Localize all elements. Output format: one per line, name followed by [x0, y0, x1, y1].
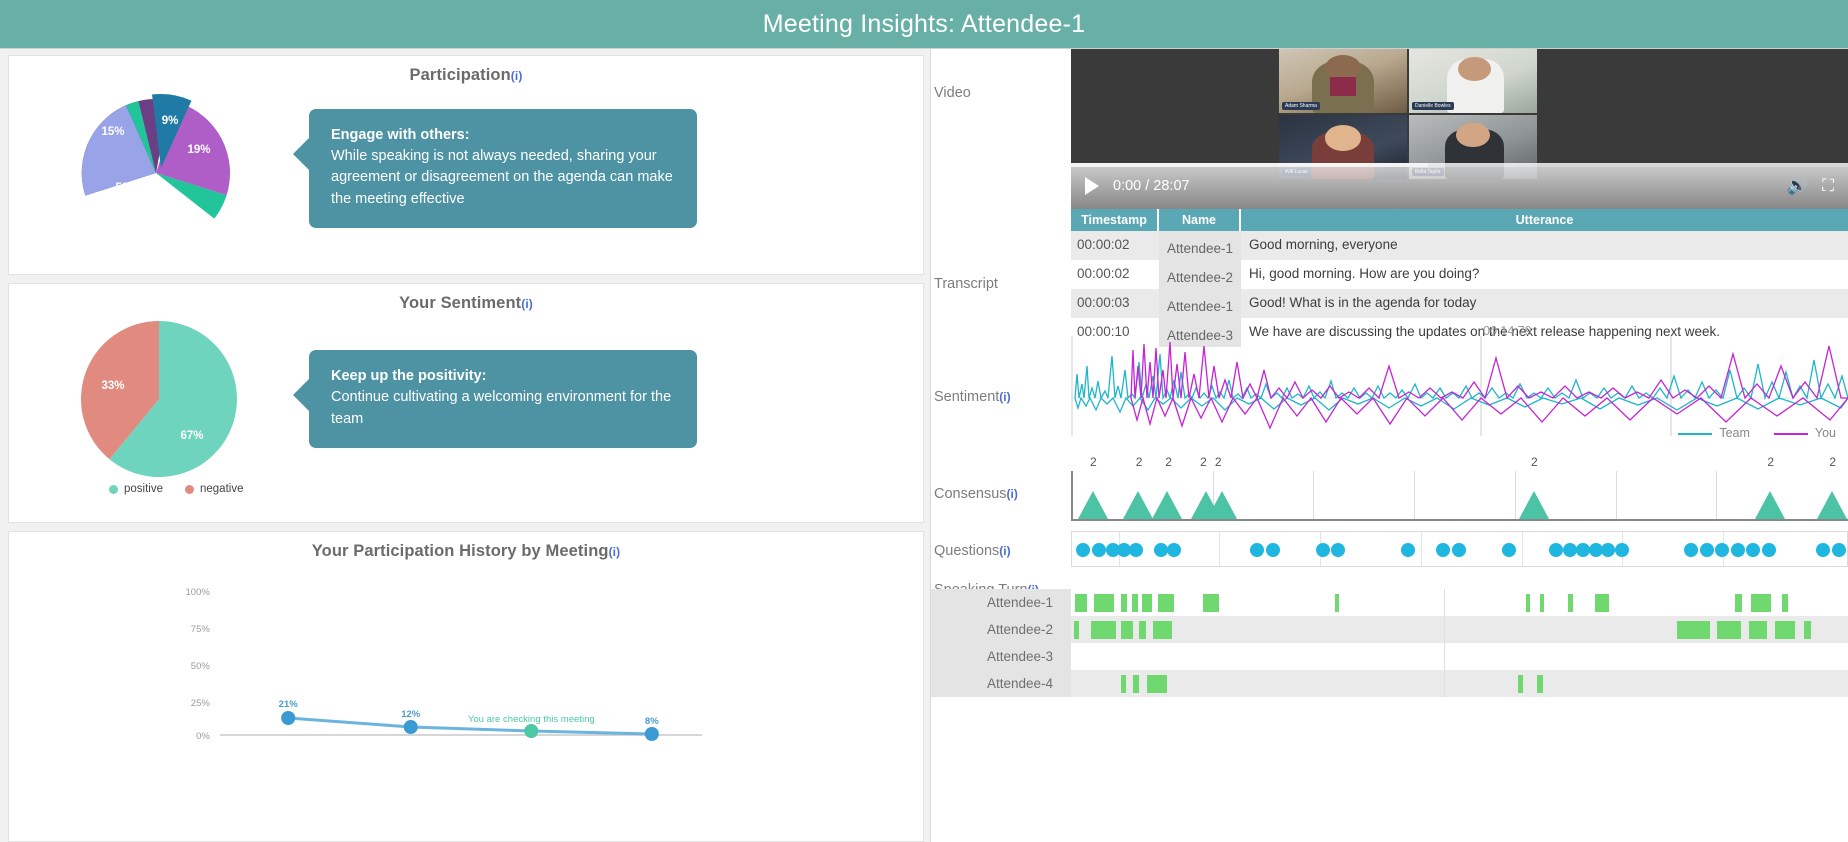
history-title-text: Your Participation History by Meeting — [312, 542, 609, 560]
consensus-value-7: 2 — [1829, 455, 1836, 469]
consensus-value-5: 2 — [1531, 455, 1538, 469]
video-player[interactable]: Adam Sharma Danielle Bowles Will Lucas — [1071, 49, 1848, 209]
consensus-value-2: 2 — [1165, 455, 1172, 469]
legend-dot-negative — [185, 485, 194, 494]
cell-utterance: Good morning, everyone — [1241, 231, 1848, 260]
participation-callout-text: While speaking is not always needed, sha… — [331, 146, 675, 209]
participation-history-card: Your Participation History by Meeting(i)… — [8, 531, 924, 842]
participation-content: 52% 15% 9% 19% Engage with others: While… — [9, 81, 923, 256]
cell-timestamp: 00:00:03 — [1071, 289, 1159, 318]
cell-utterance: Hi, good morning. How are you doing? — [1241, 260, 1848, 289]
questions-info-icon[interactable]: (i) — [999, 544, 1010, 558]
pie-slice-label-15: 15% — [101, 126, 124, 138]
sentiment-timeline-chart[interactable]: 00:14:79 Team — [1071, 336, 1848, 436]
volume-icon[interactable]: 🔊 — [1787, 176, 1808, 196]
label-questions: Questions(i) — [934, 543, 1011, 559]
participation-card: Participation(i) — [8, 55, 924, 275]
sentiment-info-icon[interactable]: (i) — [521, 297, 533, 311]
column-header-name: Name — [1159, 209, 1241, 231]
label-sentiment: Sentiment(i) — [934, 389, 1011, 405]
video-time: 0:00 / 28:07 — [1113, 178, 1190, 194]
speaking-turn-track-2 — [1071, 643, 1848, 670]
transcript-header: Timestamp Name Utterance — [1071, 209, 1848, 231]
history-point-0[interactable] — [281, 711, 295, 725]
sentiment-pie-chart[interactable]: 33% 67% — [69, 319, 249, 479]
label-video: Video — [934, 85, 971, 101]
consensus-value-0: 2 — [1090, 455, 1097, 469]
legend-label-negative: negative — [200, 483, 243, 495]
page-title: Meeting Insights: Attendee-1 — [763, 10, 1085, 39]
speaking-turn-chart[interactable]: Attendee-1 — [931, 589, 1848, 697]
video-tile-1: Danielle Bowles — [1409, 49, 1537, 113]
cell-timestamp: 00:00:02 — [1071, 260, 1159, 289]
speaking-turn-row[interactable]: Attendee-4 — [931, 670, 1848, 697]
video-tile-name-1: Danielle Bowles — [1412, 102, 1454, 110]
table-row[interactable]: 00:00:03 Attendee-1 Good! What is in the… — [1071, 289, 1848, 318]
history-point-label-3: 8% — [645, 716, 659, 727]
cell-name: Attendee-2 — [1159, 260, 1241, 289]
label-consensus: Consensus(i) — [934, 486, 1018, 502]
participation-title-text: Participation — [410, 66, 511, 84]
consensus-info-icon[interactable]: (i) — [1007, 487, 1018, 501]
participation-pie-wrap: 52% 15% 9% 19% — [9, 81, 309, 256]
speaking-turn-row[interactable]: Attendee-2 — [931, 616, 1848, 643]
participation-info-icon[interactable]: (i) — [511, 69, 523, 83]
participation-callout-title: Engage with others: — [331, 127, 675, 143]
legend-item-negative: negative — [185, 483, 243, 495]
participation-history-chart[interactable]: 100% 75% 50% 25% 0% 21% 12% 8% You are c… — [9, 561, 923, 741]
sentiment-legend: positive negative — [9, 483, 923, 495]
history-point-label-0: 21% — [279, 699, 299, 710]
video-controls: 0:00 / 28:07 🔊 ⛶ — [1071, 163, 1848, 209]
questions-timeline[interactable] — [1071, 531, 1848, 567]
video-tile-0: Adam Sharma — [1279, 49, 1407, 113]
speaking-turn-name-1: Attendee-2 — [931, 616, 1071, 643]
sentiment-legend-team: Team — [1678, 426, 1750, 440]
sentiment-callout: Keep up the positivity: Continue cultiva… — [309, 350, 697, 447]
legend-dot-positive — [109, 485, 118, 494]
cell-name: Attendee-1 — [1159, 231, 1241, 260]
y-tick-100: 100% — [185, 587, 210, 598]
play-icon[interactable] — [1085, 177, 1099, 195]
video-tile-name-0: Adam Sharma — [1282, 102, 1320, 110]
history-info-icon[interactable]: (i) — [609, 545, 621, 559]
speaking-turn-name-3: Attendee-4 — [931, 670, 1071, 697]
app-header: Meeting Insights: Attendee-1 — [0, 0, 1848, 49]
sentiment-legend-you: You — [1774, 426, 1836, 440]
sentiment-legend-team-label: Team — [1719, 426, 1750, 440]
sentiment-title-text: Your Sentiment — [399, 294, 521, 312]
consensus-value-3: 2 — [1200, 455, 1207, 469]
sentiment-pie-wrap: 33% 67% — [9, 319, 309, 479]
sentiment-card: Your Sentiment(i) 33% 67% — [8, 283, 924, 523]
right-panel: Video Transcript Sentiment(i) Consensus(… — [931, 49, 1848, 842]
sentiment-title: Your Sentiment(i) — [9, 284, 923, 313]
sentiment-row-info-icon[interactable]: (i) — [999, 390, 1010, 404]
speaking-turn-row[interactable]: Attendee-3 — [931, 643, 1848, 670]
sentiment-timestamp: 00:14:79 — [1483, 324, 1532, 338]
speaking-turn-name-2: Attendee-3 — [931, 643, 1071, 670]
pie-slice-label-19: 19% — [187, 144, 210, 156]
speaking-turn-row[interactable]: Attendee-1 — [931, 589, 1848, 616]
pie-slice-label-33: 33% — [101, 380, 124, 392]
consensus-value-1: 2 — [1136, 455, 1143, 469]
video-tiles: Adam Sharma Danielle Bowles Will Lucas — [1279, 49, 1537, 179]
meeting-insights-app: Meeting Insights: Attendee-1 Participati… — [0, 0, 1848, 842]
participation-callout: Engage with others: While speaking is no… — [309, 109, 697, 227]
fullscreen-icon[interactable]: ⛶ — [1822, 176, 1834, 196]
consensus-timeline[interactable]: 2 2 2 2 2 2 2 2 — [1071, 471, 1848, 521]
consensus-value-6: 2 — [1767, 455, 1774, 469]
y-tick-25: 25% — [191, 698, 211, 709]
history-annotation: You are checking this meeting — [468, 714, 595, 725]
legend-label-positive: positive — [124, 483, 163, 495]
speaking-turn-track-0 — [1071, 589, 1848, 616]
y-tick-75: 75% — [191, 624, 211, 635]
participation-pie-chart[interactable]: 52% 15% 9% 19% — [68, 81, 250, 256]
history-point-label-1: 12% — [401, 709, 421, 720]
speaking-turn-track-1 — [1071, 616, 1848, 643]
history-point-2[interactable] — [524, 724, 538, 738]
pie-slice-label-52: 52% — [115, 182, 138, 194]
sentiment-waveform — [1071, 336, 1848, 436]
label-transcript: Transcript — [934, 276, 998, 292]
table-row[interactable]: 00:00:02 Attendee-1 Good morning, everyo… — [1071, 231, 1848, 260]
table-row[interactable]: 00:00:02 Attendee-2 Hi, good morning. Ho… — [1071, 260, 1848, 289]
speaking-turn-name-0: Attendee-1 — [931, 589, 1071, 616]
history-title: Your Participation History by Meeting(i) — [9, 532, 923, 561]
sentiment-legend-you-label: You — [1815, 426, 1836, 440]
pie-slice-label-9: 9% — [162, 115, 179, 127]
consensus-value-4: 2 — [1215, 455, 1222, 469]
sentiment-legend-right: Team You — [1678, 426, 1836, 440]
pie-slice-label-67: 67% — [180, 430, 203, 442]
sentiment-callout-title: Keep up the positivity: — [331, 368, 675, 384]
sentiment-content: 33% 67% Keep up the positivity: Continue… — [9, 319, 923, 479]
speaking-turn-track-3 — [1071, 670, 1848, 697]
label-questions-text: Questions — [934, 543, 999, 559]
y-tick-0: 0% — [196, 731, 210, 741]
history-point-3[interactable] — [645, 727, 659, 741]
label-sentiment-text: Sentiment — [934, 389, 999, 405]
history-point-1[interactable] — [404, 720, 418, 734]
left-panel: Participation(i) — [0, 49, 931, 842]
cell-utterance: Good! What is in the agenda for today — [1241, 289, 1848, 318]
app-body: Participation(i) — [0, 49, 1848, 842]
y-tick-50: 50% — [191, 661, 211, 672]
legend-item-positive: positive — [109, 483, 163, 495]
sentiment-callout-text: Continue cultivating a welcoming environ… — [331, 387, 675, 429]
transcript-table[interactable]: Timestamp Name Utterance 00:00:02 Attend… — [1071, 209, 1848, 347]
cell-timestamp: 00:00:02 — [1071, 231, 1159, 260]
column-header-timestamp: Timestamp — [1071, 209, 1159, 231]
label-consensus-text: Consensus — [934, 486, 1007, 502]
column-header-utterance: Utterance — [1241, 209, 1848, 231]
cell-name: Attendee-1 — [1159, 289, 1241, 318]
